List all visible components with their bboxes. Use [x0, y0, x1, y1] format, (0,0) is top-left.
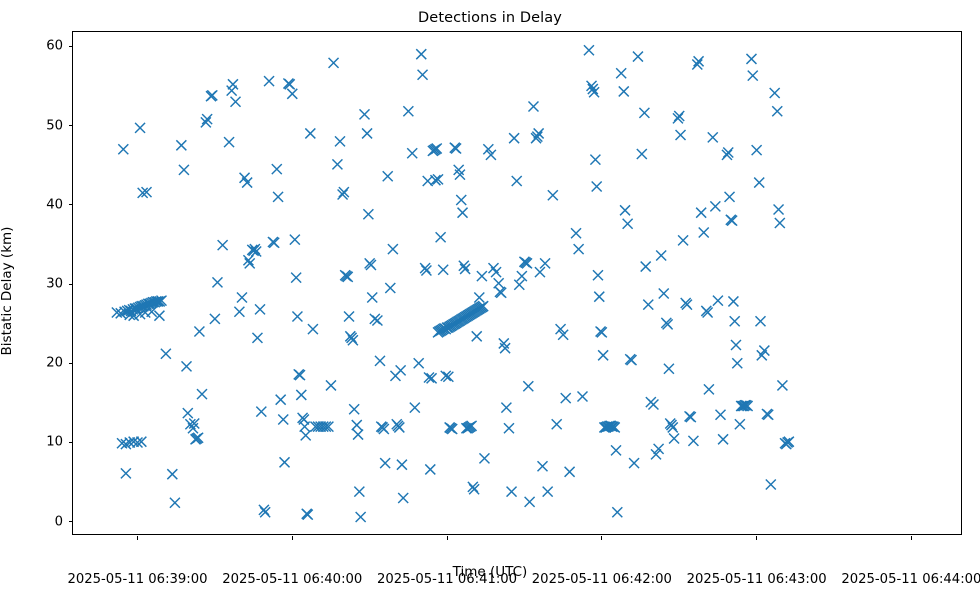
scatter-marker [759, 346, 769, 356]
scatter-marker [403, 106, 413, 116]
y-axis-tick-mark [69, 442, 73, 443]
scatter-marker [512, 176, 522, 186]
scatter-marker [207, 90, 217, 100]
y-axis-tick-mark [69, 204, 73, 205]
scatter-marker [363, 209, 373, 219]
scatter-marker [574, 244, 584, 254]
scatter-marker [641, 262, 651, 272]
scatter-marker [380, 458, 390, 468]
scatter-marker [770, 88, 780, 98]
scatter-marker [285, 79, 295, 89]
scatter-marker [514, 280, 524, 290]
scatter-marker [425, 464, 435, 474]
scatter-marker [619, 86, 629, 96]
scatter-marker [407, 148, 417, 158]
y-axis-tick-label: 60 [11, 39, 63, 54]
scatter-marker [784, 437, 794, 447]
scatter-marker [633, 52, 643, 62]
scatter-marker [256, 407, 266, 417]
scatter-marker [592, 182, 602, 192]
scatter-marker [287, 89, 297, 99]
scatter-marker [305, 128, 315, 138]
x-axis-tick-mark [601, 536, 602, 540]
scatter-marker [291, 273, 301, 283]
scatter-marker [627, 355, 637, 365]
scatter-series-detections [73, 32, 961, 534]
scatter-marker [231, 97, 241, 107]
scatter-marker [523, 381, 533, 391]
x-axis-tick-mark [447, 536, 448, 540]
scatter-marker [218, 240, 228, 250]
scatter-marker [121, 468, 131, 478]
scatter-marker [664, 364, 674, 374]
scatter-marker [280, 457, 290, 467]
scatter-marker [594, 292, 604, 302]
scatter-marker [501, 403, 511, 413]
scatter-marker [528, 101, 538, 111]
scatter-marker [272, 164, 282, 174]
scatter-marker [538, 461, 548, 471]
scatter-marker [335, 136, 345, 146]
scatter-marker [491, 267, 501, 277]
scatter-marker [416, 49, 426, 59]
scatter-marker [772, 106, 782, 116]
scatter-marker [385, 283, 395, 293]
scatter-marker [472, 331, 482, 341]
y-axis-tick-label: 10 [11, 435, 63, 450]
scatter-marker [326, 380, 336, 390]
scatter-marker [732, 358, 742, 368]
y-axis-tick-label: 0 [11, 514, 63, 529]
scatter-plot-area [73, 32, 961, 534]
y-axis-label: Bistatic Delay (km) [0, 39, 15, 543]
scatter-marker [598, 350, 608, 360]
scatter-marker [367, 292, 377, 302]
scatter-marker [290, 235, 300, 245]
x-axis-tick-mark [137, 536, 138, 540]
scatter-marker [535, 267, 545, 277]
y-axis-tick-label: 20 [11, 356, 63, 371]
scatter-marker [332, 159, 342, 169]
scatter-marker [212, 277, 222, 287]
scatter-marker [752, 145, 762, 155]
scatter-marker [397, 460, 407, 470]
scatter-marker [388, 244, 398, 254]
scatter-marker [755, 316, 765, 326]
scatter-marker [237, 292, 247, 302]
scatter-marker [696, 208, 706, 218]
scatter-marker [540, 258, 550, 268]
matplotlib-figure: Detections in Delay 0102030405060 2025-0… [0, 0, 980, 590]
scatter-marker [329, 58, 339, 68]
scatter-marker [517, 271, 527, 281]
y-axis-tick-label: 30 [11, 277, 63, 292]
scatter-marker [383, 171, 393, 181]
scatter-marker [278, 415, 288, 425]
scatter-marker [179, 165, 189, 175]
scatter-marker [746, 54, 756, 64]
scatter-marker [656, 250, 666, 260]
scatter-marker [410, 403, 420, 413]
y-axis-tick-label: 40 [11, 197, 63, 212]
y-axis-tick-mark [69, 46, 73, 47]
y-axis-tick-mark [69, 125, 73, 126]
scatter-marker [708, 132, 718, 142]
x-axis-tick-mark [911, 536, 912, 540]
scatter-marker [436, 232, 446, 242]
scatter-marker [504, 423, 514, 433]
scatter-marker [118, 144, 128, 154]
scatter-marker [296, 390, 306, 400]
scatter-marker [308, 324, 318, 334]
scatter-marker [731, 340, 741, 350]
scatter-marker [616, 68, 626, 78]
scatter-marker [183, 408, 193, 418]
scatter-marker [242, 178, 252, 188]
scatter-marker [477, 271, 487, 281]
scatter-marker [754, 178, 764, 188]
scatter-marker [593, 270, 603, 280]
scatter-marker [713, 296, 723, 306]
scatter-marker [458, 208, 468, 218]
scatter-marker [763, 410, 773, 420]
scatter-marker [295, 370, 305, 380]
scatter-marker [354, 487, 364, 497]
scatter-marker [735, 419, 745, 429]
scatter-marker [252, 333, 262, 343]
scatter-marker [269, 238, 279, 248]
scatter-marker [224, 137, 234, 147]
scatter-marker [543, 487, 553, 497]
scatter-marker [507, 487, 517, 497]
x-axis-tick-mark [756, 536, 757, 540]
scatter-marker [494, 278, 504, 288]
scatter-marker [161, 349, 171, 359]
scatter-marker [176, 140, 186, 150]
x-axis-tick-mark [292, 536, 293, 540]
scatter-marker [398, 493, 408, 503]
scatter-marker [777, 380, 787, 390]
scatter-marker [728, 296, 738, 306]
scatter-marker [167, 469, 177, 479]
scatter-marker [438, 265, 448, 275]
scatter-marker [228, 79, 238, 89]
scatter-marker [648, 399, 658, 409]
scatter-marker [612, 507, 622, 517]
scatter-marker [264, 76, 274, 86]
y-axis-tick-mark [69, 363, 73, 364]
scatter-marker [276, 395, 286, 405]
scatter-marker [676, 130, 686, 140]
scatter-marker [344, 311, 354, 321]
scatter-marker [456, 195, 466, 205]
scatter-marker [704, 384, 714, 394]
scatter-marker [775, 218, 785, 228]
scatter-marker [643, 300, 653, 310]
y-axis-tick-mark [69, 521, 73, 522]
plot-axes: 0102030405060 2025-05-11 06:39:002025-05… [72, 31, 962, 535]
scatter-marker [659, 289, 669, 299]
scatter-marker [639, 108, 649, 118]
scatter-marker [571, 228, 581, 238]
scatter-marker [620, 205, 630, 215]
scatter-marker [479, 453, 489, 463]
scatter-marker [451, 143, 461, 153]
y-axis-tick-mark [69, 284, 73, 285]
scatter-marker [525, 497, 535, 507]
scatter-marker [710, 201, 720, 211]
scatter-marker [182, 361, 192, 371]
scatter-marker [301, 430, 311, 440]
scatter-marker [669, 434, 679, 444]
y-axis-tick-label: 50 [11, 118, 63, 133]
scatter-marker [678, 235, 688, 245]
scatter-marker [474, 292, 484, 302]
scatter-marker [352, 420, 362, 430]
scatter-marker [597, 327, 607, 337]
page-title: Detections in Delay [0, 10, 980, 26]
scatter-marker [194, 327, 204, 337]
scatter-marker [686, 412, 696, 422]
scatter-marker [509, 133, 519, 143]
scatter-marker [396, 365, 406, 375]
scatter-marker [362, 128, 372, 138]
scatter-marker [730, 316, 740, 326]
scatter-marker [552, 419, 562, 429]
scatter-marker [135, 123, 145, 133]
scatter-marker [496, 288, 506, 298]
scatter-marker [375, 356, 385, 366]
scatter-marker [629, 458, 639, 468]
scatter-marker [548, 190, 558, 200]
scatter-marker [623, 219, 633, 229]
scatter-marker [210, 314, 220, 324]
scatter-marker [727, 216, 737, 226]
scatter-marker [584, 45, 594, 55]
scatter-marker [197, 389, 207, 399]
scatter-marker [590, 155, 600, 165]
scatter-marker [565, 467, 575, 477]
scatter-marker [303, 510, 313, 520]
x-axis-label: Time (UTC) [0, 564, 980, 580]
scatter-marker [774, 205, 784, 215]
scatter-marker [356, 512, 366, 522]
scatter-marker [418, 70, 428, 80]
scatter-marker [718, 434, 728, 444]
scatter-marker [688, 436, 698, 446]
scatter-marker [353, 430, 363, 440]
scatter-marker [699, 227, 709, 237]
scatter-marker [611, 445, 621, 455]
scatter-marker [349, 404, 359, 414]
scatter-marker [577, 392, 587, 402]
scatter-marker [414, 358, 424, 368]
scatter-marker [360, 109, 370, 119]
scatter-marker [170, 498, 180, 508]
scatter-marker [716, 410, 726, 420]
scatter-marker [748, 71, 758, 81]
scatter-marker [725, 192, 735, 202]
scatter-marker [273, 192, 283, 202]
scatter-marker [766, 479, 776, 489]
scatter-marker [255, 304, 265, 314]
scatter-marker [234, 307, 244, 317]
scatter-marker [292, 311, 302, 321]
scatter-marker [637, 149, 647, 159]
scatter-marker [561, 393, 571, 403]
